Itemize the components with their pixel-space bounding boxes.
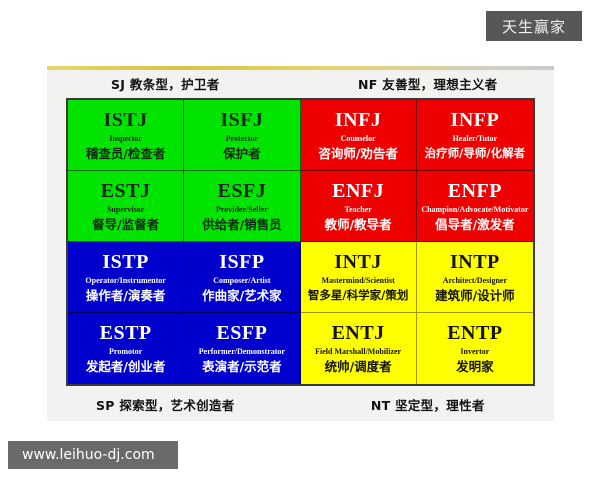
- mbti-cell-infp[interactable]: INFP Healer/Tutor 治疗师/导师/化解者: [417, 100, 533, 171]
- watermark-bottom-left: www.leihuo-dj.com: [8, 441, 178, 469]
- type-chinese-name: 操作者/演奏者: [86, 290, 166, 303]
- type-chinese-name: 咨询师/劝告者: [318, 148, 398, 161]
- mbti-cell-estj[interactable]: ESTJ Supervisor 督导/监督者: [68, 171, 184, 242]
- type-english-name: Performer/Demonstrator: [199, 348, 285, 356]
- type-chinese-name: 作曲家/艺术家: [202, 290, 282, 303]
- type-chinese-name: 表演者/示范者: [202, 361, 282, 374]
- type-code: INTP: [450, 252, 500, 272]
- mbti-cell-enfp[interactable]: ENFP Champion/Advocate/Motivator 倡导者/激发者: [417, 171, 533, 242]
- type-code: INTJ: [334, 252, 382, 272]
- type-english-name: Healer/Tutor: [453, 135, 498, 143]
- type-code: ENFP: [448, 181, 502, 201]
- mbti-grid: ISTJ Inspector 稽查员/检查者 ISFJ Protector 保护…: [66, 98, 535, 386]
- type-code: ENTP: [447, 323, 502, 343]
- type-code: ENFJ: [332, 181, 384, 201]
- type-code: INFP: [451, 110, 500, 130]
- type-english-name: Architect/Designer: [443, 277, 507, 285]
- type-chinese-name: 发明家: [456, 361, 494, 374]
- mbti-cell-intj[interactable]: INTJ Mastermind/Scientist 智多星/科学家/策划: [301, 242, 417, 313]
- type-chinese-name: 发起者/创业者: [86, 361, 166, 374]
- type-english-name: Protector: [226, 135, 258, 143]
- type-code: INFJ: [335, 110, 381, 130]
- header-band-bottom: SP 探索型，艺术创造者 NT 坚定型，理性者: [47, 391, 554, 418]
- mbti-cell-infj[interactable]: INFJ Counselor 咨询师/劝告者: [301, 100, 417, 171]
- type-english-name: Invertor: [460, 348, 489, 356]
- mbti-poster: SJ 教条型，护卫者 NF 友善型，理想主义者 ISTJ Inspector 稽…: [47, 66, 554, 421]
- type-english-name: Teacher: [344, 206, 371, 214]
- type-english-name: Supervisor: [107, 206, 144, 214]
- type-english-name: Operator/Instrumentor: [85, 277, 165, 285]
- header-label-sp: SP 探索型，艺术创造者: [47, 391, 310, 418]
- watermark-top-right: 天生赢家: [486, 11, 582, 41]
- type-chinese-name: 智多星/科学家/策划: [308, 290, 408, 302]
- type-code: ESFP: [216, 323, 267, 343]
- mbti-cell-intp[interactable]: INTP Architect/Designer 建筑师/设计师: [417, 242, 533, 313]
- header-label-nt: NT 坚定型，理性者: [310, 391, 555, 418]
- type-code: ENTJ: [332, 323, 385, 343]
- mbti-cell-isfj[interactable]: ISFJ Protector 保护者: [184, 100, 300, 171]
- type-english-name: Counselor: [341, 135, 376, 143]
- type-chinese-name: 治疗师/导师/化解者: [425, 148, 525, 160]
- mbti-cell-entp[interactable]: ENTP Invertor 发明家: [417, 313, 533, 384]
- type-english-name: Champion/Advocate/Motivator: [421, 206, 528, 214]
- type-chinese-name: 建筑师/设计师: [435, 290, 515, 303]
- type-english-name: Promotor: [109, 348, 142, 356]
- mbti-cell-istp[interactable]: ISTP Operator/Instrumentor 操作者/演奏者: [68, 242, 184, 313]
- type-chinese-name: 供给者/销售员: [202, 219, 282, 232]
- header-label-nf: NF 友善型，理想主义者: [310, 70, 555, 97]
- type-chinese-name: 教师/教导者: [325, 219, 392, 232]
- type-english-name: Inspector: [109, 135, 141, 143]
- type-chinese-name: 统帅/调度者: [325, 361, 392, 374]
- type-chinese-name: 督导/监督者: [92, 219, 159, 232]
- type-code: ISTJ: [104, 110, 148, 130]
- type-code: ISTP: [102, 252, 148, 272]
- type-code: ESTJ: [101, 181, 151, 201]
- header-band-top: SJ 教条型，护卫者 NF 友善型，理想主义者: [47, 70, 554, 97]
- mbti-cell-isfp[interactable]: ISFP Composer/Artist 作曲家/艺术家: [184, 242, 300, 313]
- type-code: ISFP: [219, 252, 264, 272]
- type-code: ESTP: [100, 323, 152, 343]
- type-chinese-name: 倡导者/激发者: [435, 219, 515, 232]
- mbti-cell-estp[interactable]: ESTP Promotor 发起者/创业者: [68, 313, 184, 384]
- mbti-cell-istj[interactable]: ISTJ Inspector 稽查员/检查者: [68, 100, 184, 171]
- mbti-cell-esfp[interactable]: ESFP Performer/Demonstrator 表演者/示范者: [184, 313, 300, 384]
- mbti-cell-esfj[interactable]: ESFJ Provider/Seller 供给者/销售员: [184, 171, 300, 242]
- mbti-cell-enfj[interactable]: ENFJ Teacher 教师/教导者: [301, 171, 417, 242]
- type-chinese-name: 保护者: [223, 148, 261, 161]
- type-code: ISFJ: [220, 110, 263, 130]
- type-english-name: Field Marshall/Mobilizer: [315, 348, 401, 356]
- type-chinese-name: 稽查员/检查者: [86, 148, 166, 161]
- type-english-name: Mastermind/Scientist: [321, 277, 394, 285]
- type-english-name: Provider/Seller: [216, 206, 268, 214]
- type-code: ESFJ: [218, 181, 267, 201]
- header-label-sj: SJ 教条型，护卫者: [47, 70, 310, 97]
- mbti-cell-entj[interactable]: ENTJ Field Marshall/Mobilizer 统帅/调度者: [301, 313, 417, 384]
- type-english-name: Composer/Artist: [213, 277, 270, 285]
